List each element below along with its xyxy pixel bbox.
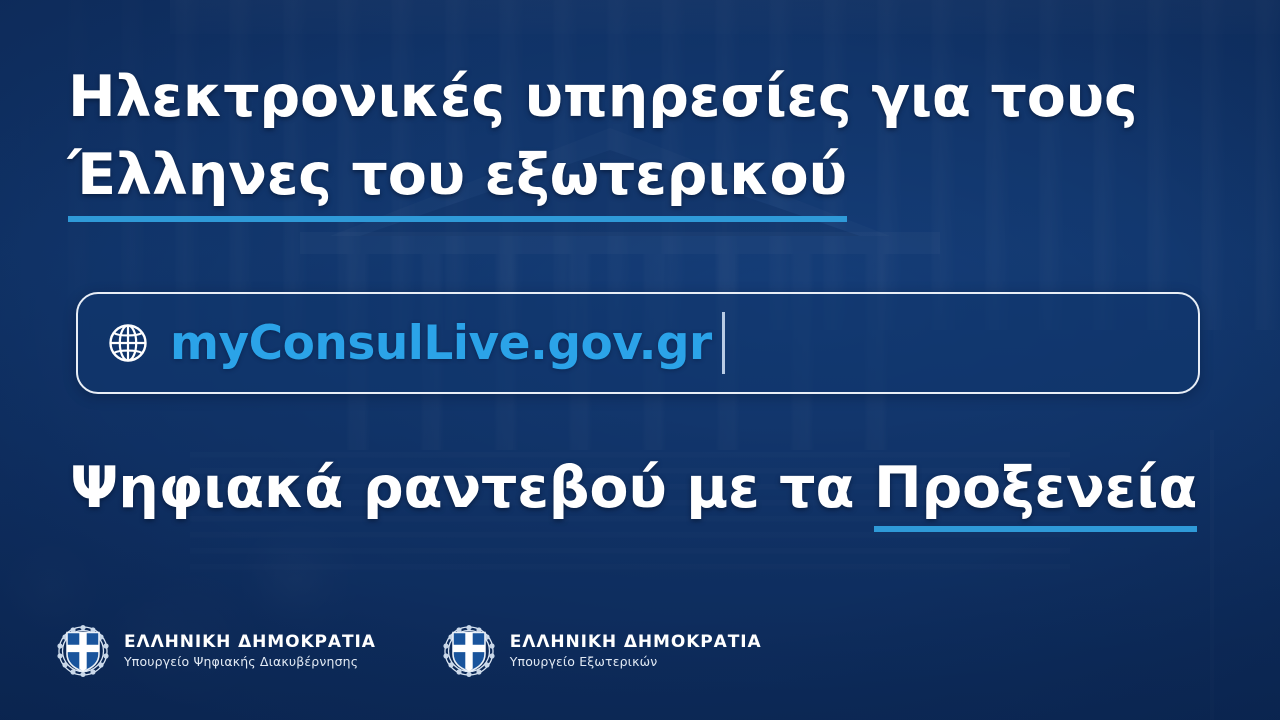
headline-top-line2-wrap: Έλληνες του εξωτερικού xyxy=(68,136,1198,222)
logo-text: ΕΛΛΗΝΙΚΗ ΔΗΜΟΚΡΑΤΙΑ Υπουργείο Ψηφιακής Δ… xyxy=(124,633,376,669)
logo-text: ΕΛΛΗΝΙΚΗ ΔΗΜΟΚΡΑΤΙΑ Υπουργείο Εξωτερικών xyxy=(510,633,762,669)
logo-ministry-digital-governance: ΕΛΛΗΝΙΚΗ ΔΗΜΟΚΡΑΤΙΑ Υπουργείο Ψηφιακής Δ… xyxy=(56,624,376,678)
logo-ministry-foreign-affairs: ΕΛΛΗΝΙΚΗ ΔΗΜΟΚΡΑΤΙΑ Υπουργείο Εξωτερικών xyxy=(442,624,762,678)
headline-top-line2: Έλληνες του εξωτερικού xyxy=(68,136,847,222)
greek-coat-of-arms-icon xyxy=(442,624,496,678)
logo-row: ΕΛΛΗΝΙΚΗ ΔΗΜΟΚΡΑΤΙΑ Υπουργείο Ψηφιακής Δ… xyxy=(56,624,762,678)
greek-coat-of-arms-icon xyxy=(56,624,110,678)
headline-top: Ηλεκτρονικές υπηρεσίες για τους Έλληνες … xyxy=(68,58,1198,222)
logo-subtitle: Υπουργείο Ψηφιακής Διακυβέρνησης xyxy=(124,655,376,669)
logo-title: ΕΛΛΗΝΙΚΗ ΔΗΜΟΚΡΑΤΙΑ xyxy=(124,633,376,651)
url-text[interactable]: myConsulLive.gov.gr xyxy=(170,316,712,371)
headline-top-line1: Ηλεκτρονικές υπηρεσίες για τους xyxy=(68,58,1198,136)
headline-bottom-prefix: Ψηφιακά ραντεβού με τα xyxy=(70,455,874,521)
url-bar[interactable]: myConsulLive.gov.gr xyxy=(76,292,1200,394)
globe-icon xyxy=(108,323,148,363)
logo-title: ΕΛΛΗΝΙΚΗ ΔΗΜΟΚΡΑΤΙΑ xyxy=(510,633,762,651)
headline-bottom: Ψηφιακά ραντεβού με τα Προξενεία xyxy=(70,452,1230,532)
promo-banner: Ηλεκτρονικές υπηρεσίες για τους Έλληνες … xyxy=(0,0,1280,720)
text-caret xyxy=(722,312,725,374)
logo-subtitle: Υπουργείο Εξωτερικών xyxy=(510,655,762,669)
headline-bottom-emphasis: Προξενεία xyxy=(874,452,1197,532)
